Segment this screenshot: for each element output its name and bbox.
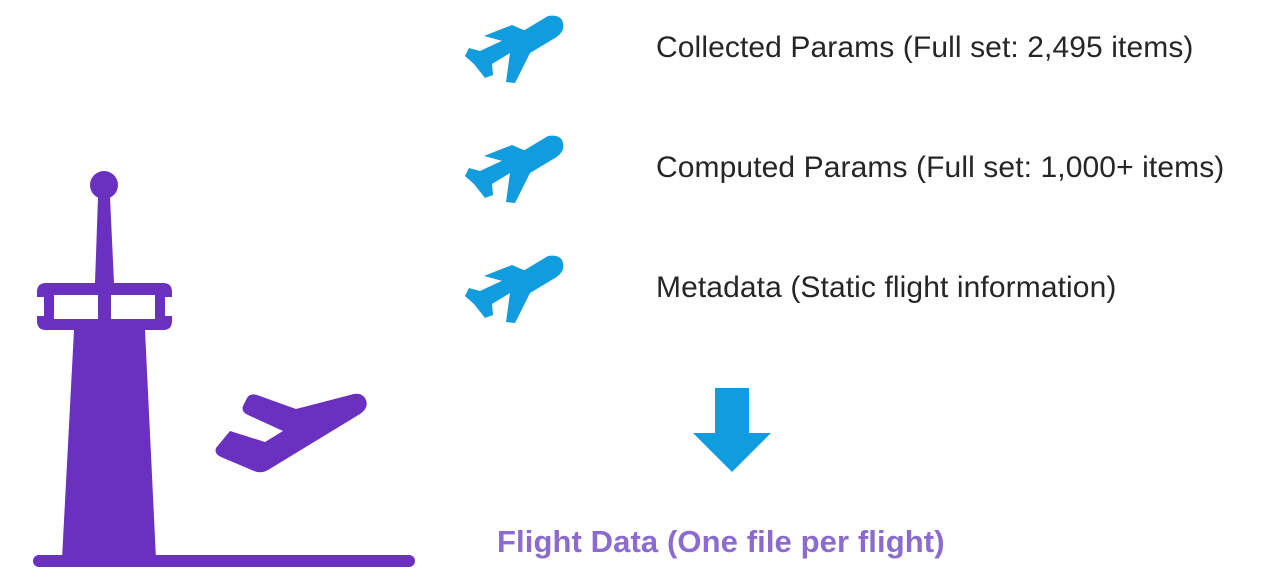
arrow-down-icon <box>686 384 778 476</box>
airplane-takeoff-icon <box>462 252 570 324</box>
landing-plane-icon <box>216 394 367 473</box>
ground-line <box>33 555 415 567</box>
air-traffic-control-tower-illustration <box>0 150 440 584</box>
diagram-canvas: Collected Params (Full set: 2,495 items)… <box>0 0 1280 584</box>
list-item: Metadata (Static flight information) <box>462 252 1272 324</box>
list-item-label: Collected Params (Full set: 2,495 items) <box>656 31 1194 66</box>
list-item-label: Metadata (Static flight information) <box>656 271 1116 306</box>
tower-trunk <box>62 330 156 559</box>
cab-window-right <box>111 295 155 319</box>
list-item: Computed Params (Full set: 1,000+ items) <box>462 132 1272 204</box>
cab-window-left <box>54 295 98 319</box>
airplane-takeoff-icon <box>462 12 570 84</box>
list-item: Collected Params (Full set: 2,495 items) <box>462 12 1272 84</box>
antenna-mast <box>95 197 114 283</box>
flight-data-caption: Flight Data (One file per flight) <box>497 524 945 560</box>
antenna-ball-icon <box>90 171 118 199</box>
airplane-takeoff-icon <box>462 132 570 204</box>
list-item-label: Computed Params (Full set: 1,000+ items) <box>656 151 1224 186</box>
